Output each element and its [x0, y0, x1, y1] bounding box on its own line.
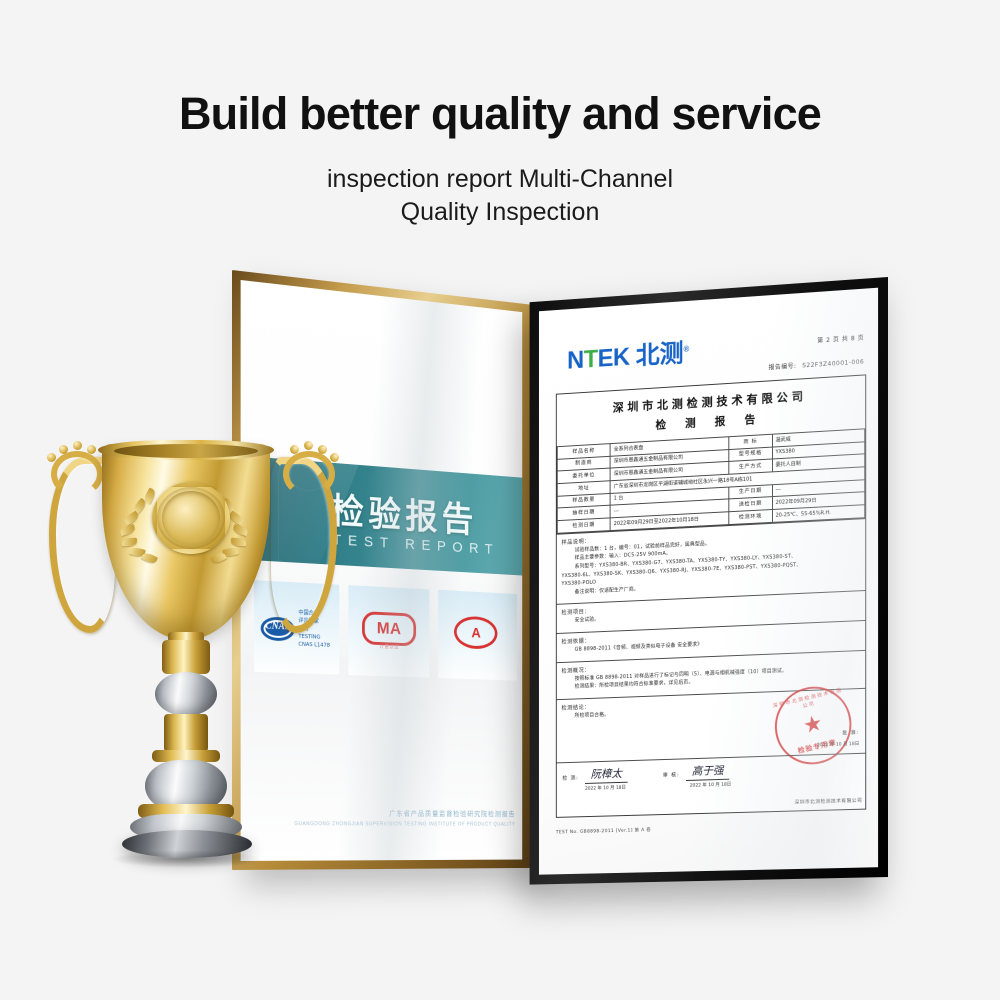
section-conclusion: 检测结论： 所检项目合格。 深圳市北测检测技术有限公司 ★ 检验专用章 批 准:…	[557, 688, 865, 763]
report-number-value: S22F3Z40001-006	[802, 359, 864, 370]
ntek-logo-ek: EK	[598, 343, 630, 372]
trophy-bowl-interior	[114, 444, 258, 458]
inspector-signature: 阮樟太	[585, 765, 628, 784]
handle-curl	[283, 451, 335, 497]
handle-bead	[290, 445, 299, 454]
handle-bead	[318, 445, 327, 454]
handle-curl	[51, 451, 103, 497]
handle-bead	[73, 441, 82, 450]
report-page: NTEK 北测® 第 2 页 共 8 页 报告编号:S22F3Z40001-00…	[539, 288, 878, 875]
trophy-shadow	[112, 850, 262, 868]
black-frame: NTEK 北测® 第 2 页 共 8 页 报告编号:S22F3Z40001-00…	[530, 277, 888, 885]
section-sample-description: 样品说明： 试验样品数：1 台，编号：01，试验前样品完好，属典型品。 样品主要…	[557, 518, 865, 604]
ntek-logo-t: T	[584, 345, 598, 373]
gold-trophy	[34, 432, 334, 932]
stamp-ring-text: 深圳市北测检测技术有限公司	[772, 686, 846, 716]
handle-bead	[330, 453, 339, 462]
third-logo-card: A	[439, 590, 518, 681]
report-info-table: 样品名称 全系列合表盘 商 标 温武威 制造商 深圳市恩鑫通五金制品有限公司 型…	[557, 428, 865, 533]
ma-caption: 计量认证	[348, 642, 430, 652]
handle-bead	[59, 445, 68, 454]
test-report-document: NTEK 北测® 第 2 页 共 8 页 报告编号:S22F3Z40001-00…	[530, 277, 888, 885]
ntek-logo: NTEK 北测®	[567, 340, 689, 373]
registered-mark-icon: ®	[684, 345, 689, 354]
trophy-stem-gold-lower	[164, 714, 208, 752]
approver-date: 2022 年 10 月 18日	[817, 741, 859, 748]
inspector-label: 检 测:	[562, 774, 578, 781]
reviewer-signature: 高于强	[686, 762, 729, 781]
trophy-stem-gold-upper	[162, 640, 210, 674]
ma-mark-icon: MA	[362, 611, 416, 646]
approver-label: 批 准:	[842, 729, 859, 737]
handle-bead	[304, 441, 313, 450]
page-indicator: 第 2 页 共 8 页	[817, 333, 864, 345]
third-mark-icon: A	[454, 616, 497, 650]
ntek-logo-cn: 北测	[636, 339, 684, 371]
report-number: 报告编号:S22F3Z40001-006	[769, 357, 865, 372]
reviewer-label: 审 核:	[663, 771, 680, 778]
trophy-knob-silver-upper	[155, 672, 217, 716]
trophy-handle-right	[264, 450, 344, 640]
ma-logo-card: MA 计量认证	[348, 585, 430, 678]
product-photo-scene: 检验报告 TEST REPORT CNAS 中国合格 评定国家 认可	[0, 0, 1000, 1000]
reviewer-date: 2022 年 10 月 18日	[690, 781, 731, 788]
report-footer-note: TEST No. GB8898-2011 [Ver.1] 第 A 卷	[556, 827, 651, 835]
handle-bead	[87, 445, 96, 454]
ntek-logo-n: N	[567, 346, 584, 374]
report-number-label: 报告编号:	[769, 363, 797, 372]
trophy-medallion	[152, 482, 230, 554]
handle-bead	[47, 453, 56, 462]
stamp-star-icon: ★	[801, 712, 824, 738]
inspector-date: 2022 年 10 月 18日	[585, 784, 626, 791]
report-body: 深圳市北测检测技术有限公司 检 测 报 告 样品名称 全系列合表盘 商 标 温武…	[556, 374, 866, 818]
